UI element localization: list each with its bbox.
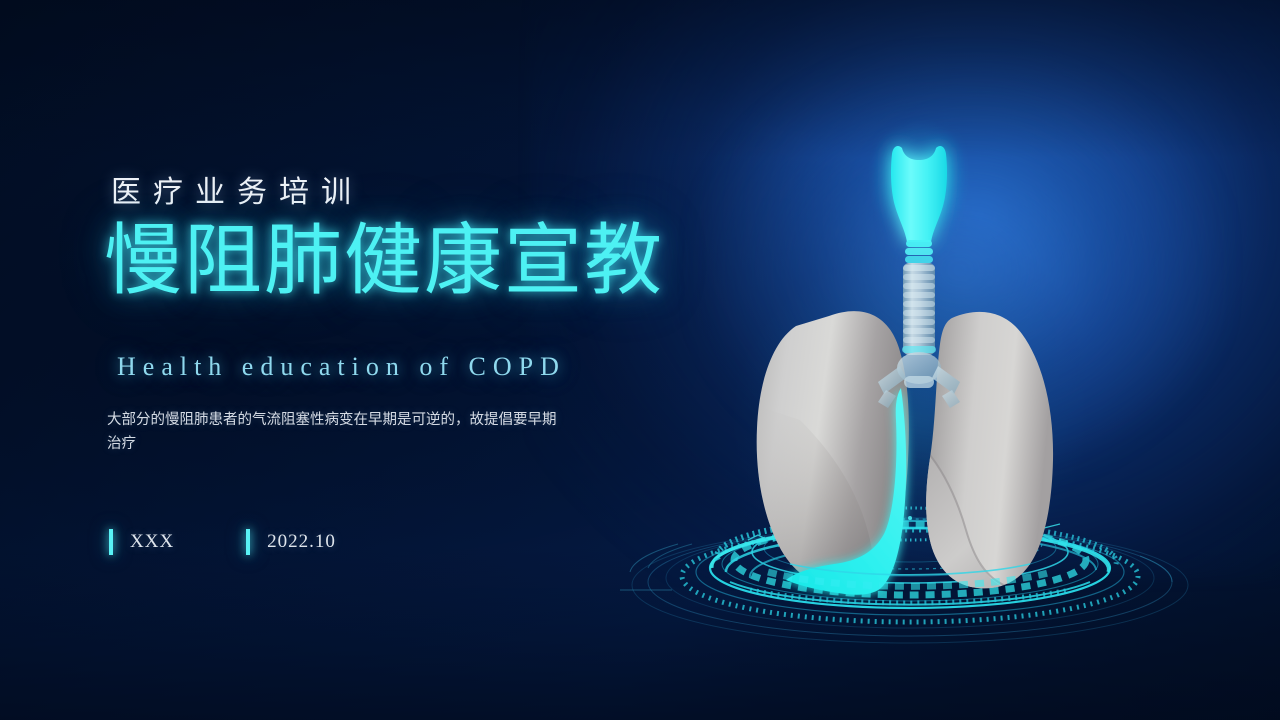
slide-canvas: 医疗业务培训 慢阻肺健康宣教 Health education of COPD … xyxy=(0,0,1280,720)
author-label: XXX xyxy=(130,531,174,553)
meta-item-date: 2022.10 xyxy=(246,529,336,555)
page-title: 慢阻肺健康宣教 xyxy=(104,222,664,300)
lungs-illustration xyxy=(600,120,1220,660)
accent-bar-icon xyxy=(246,529,250,555)
date-label: 2022.10 xyxy=(267,531,336,553)
meta-row: XXX 2022.10 xyxy=(109,529,336,555)
meta-item-author: XXX xyxy=(109,529,174,555)
accent-bar-icon xyxy=(109,529,113,555)
subtitle-english: Health education of COPD xyxy=(117,352,566,382)
eyebrow-text: 医疗业务培训 xyxy=(111,167,363,211)
description-text: 大部分的慢阻肺患者的气流阻塞性病变在早期是可逆的，故提倡要早期治疗 xyxy=(107,408,559,456)
